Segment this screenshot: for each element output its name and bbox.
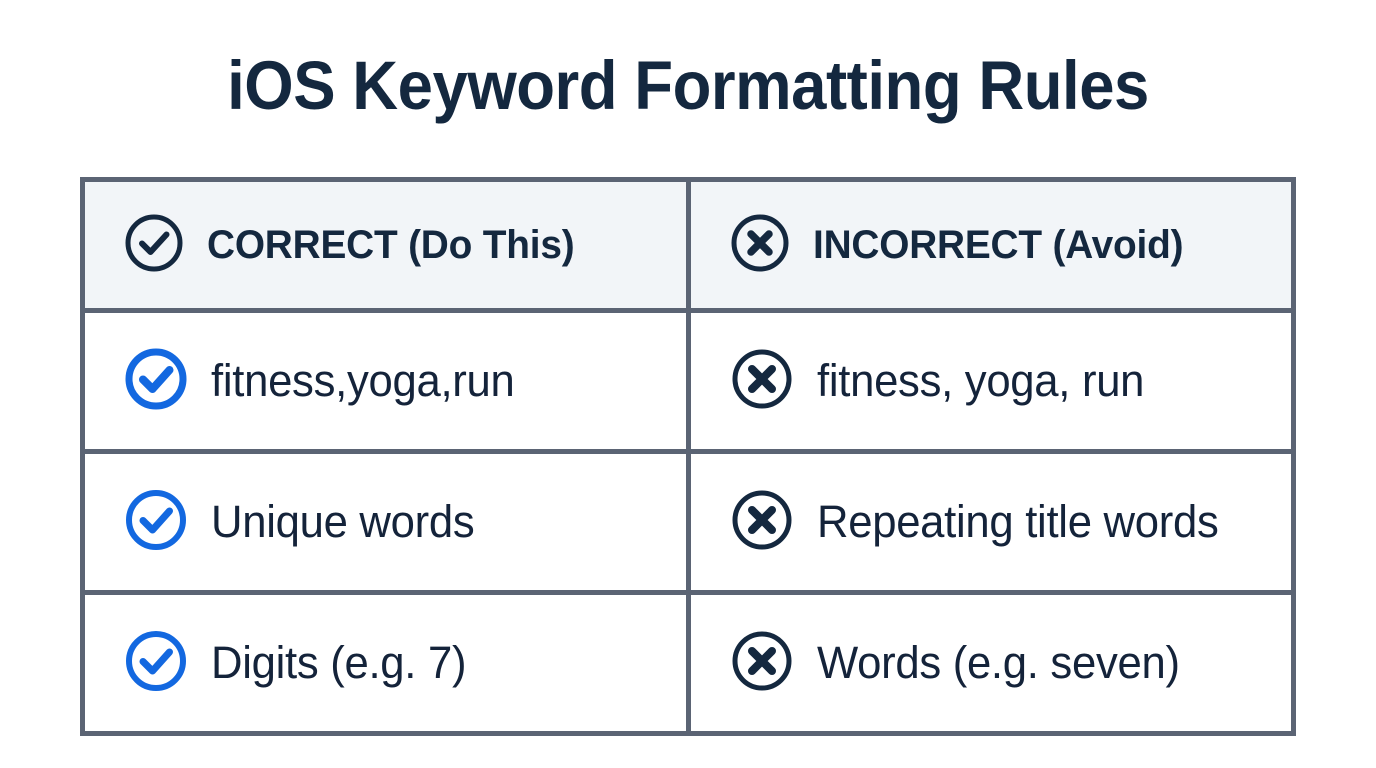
circle-x-icon <box>729 628 795 699</box>
cell-correct-label: fitness,yoga,run <box>211 355 515 407</box>
circle-check-icon <box>123 346 189 417</box>
circle-x-icon <box>729 346 795 417</box>
cell-incorrect: Repeating title words <box>688 452 1294 593</box>
cell-correct: fitness,yoga,run <box>83 311 689 452</box>
cell-incorrect-label: fitness, yoga, run <box>817 355 1144 407</box>
cell-correct-label: Digits (e.g. 7) <box>211 637 466 689</box>
cell-correct: Digits (e.g. 7) <box>83 593 689 734</box>
cell-correct: Unique words <box>83 452 689 593</box>
column-header-correct-label: CORRECT (Do This) <box>207 223 574 268</box>
rules-table-container: CORRECT (Do This) INCORRECT (Avoid) <box>80 177 1296 711</box>
circle-check-icon <box>123 212 185 279</box>
circle-x-icon <box>729 487 795 558</box>
cell-correct-label: Unique words <box>211 496 474 548</box>
table-row: Unique words Repeating title words <box>83 452 1294 593</box>
circle-check-icon <box>123 487 189 558</box>
table-header-row: CORRECT (Do This) INCORRECT (Avoid) <box>83 180 1294 311</box>
page-title: iOS Keyword Formatting Rules <box>55 46 1321 126</box>
rules-table: CORRECT (Do This) INCORRECT (Avoid) <box>80 177 1296 736</box>
cell-incorrect: fitness, yoga, run <box>688 311 1294 452</box>
infographic-canvas: iOS Keyword Formatting Rules CORREC <box>0 0 1376 768</box>
table-body: fitness,yoga,run fitness, yoga, run <box>83 311 1294 734</box>
circle-x-icon <box>729 212 791 279</box>
column-header-incorrect-label: INCORRECT (Avoid) <box>813 223 1183 268</box>
column-header-correct: CORRECT (Do This) <box>83 180 689 311</box>
column-header-incorrect: INCORRECT (Avoid) <box>688 180 1294 311</box>
cell-incorrect-label: Repeating title words <box>817 496 1219 548</box>
table-row: Digits (e.g. 7) Words (e.g. seven) <box>83 593 1294 734</box>
cell-incorrect-label: Words (e.g. seven) <box>817 637 1180 689</box>
cell-incorrect: Words (e.g. seven) <box>688 593 1294 734</box>
table-row: fitness,yoga,run fitness, yoga, run <box>83 311 1294 452</box>
circle-check-icon <box>123 628 189 699</box>
table-header: CORRECT (Do This) INCORRECT (Avoid) <box>83 180 1294 311</box>
